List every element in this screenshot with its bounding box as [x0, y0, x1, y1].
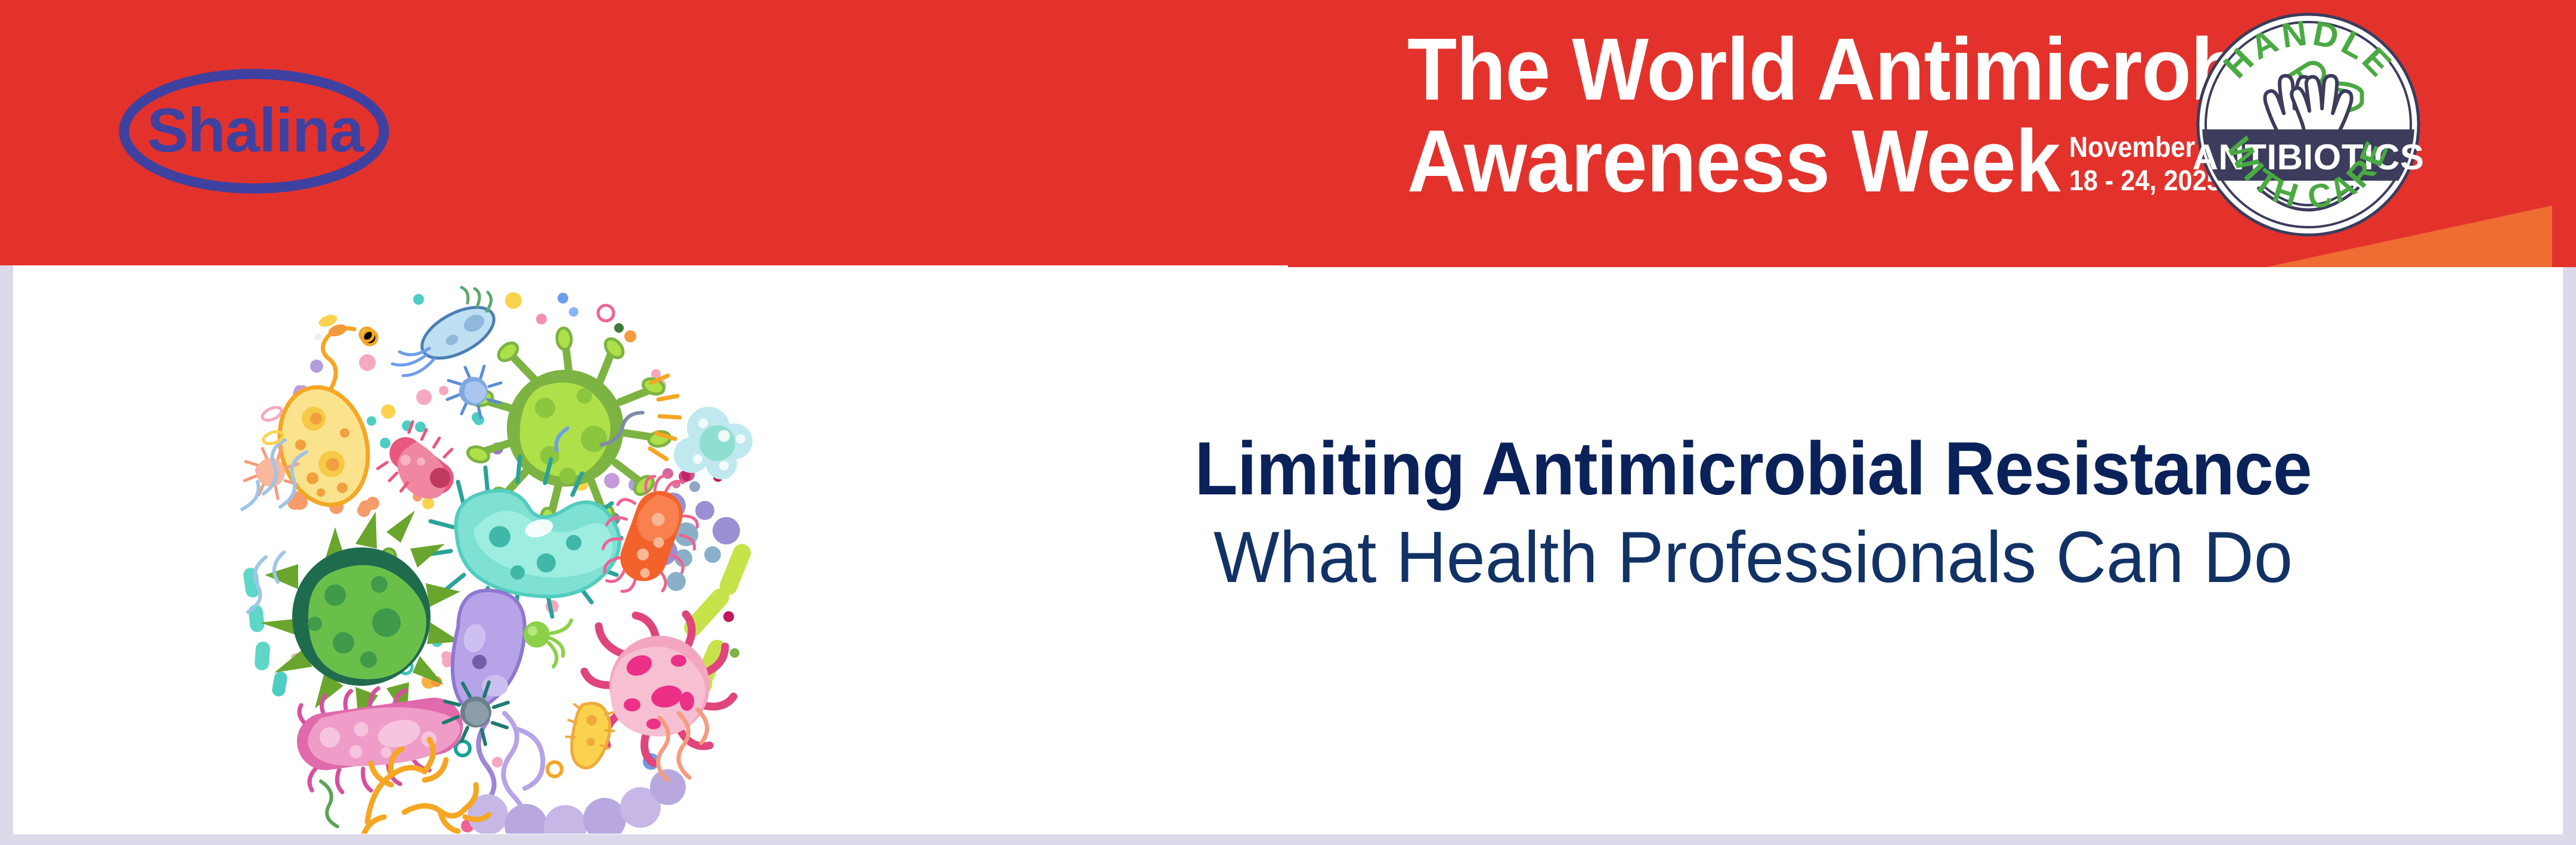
microbe-blue-spiky-ball: [447, 366, 501, 417]
microbe-blue-flagellate: [392, 287, 502, 376]
shalina-logo: Shalina: [117, 67, 391, 196]
campaign-title-line2: Awareness Week: [1407, 117, 2060, 206]
waaw-banner: Shalina The World Antimicrobial Awarenes…: [0, 0, 2576, 845]
frame-border-right: [2563, 267, 2576, 845]
page-title: Limiting Antimicrobial Resistance: [1024, 428, 2482, 509]
handle-antibiotics-badge: HANDLE: [2192, 8, 2425, 241]
headline-block: Limiting Antimicrobial Resistance What H…: [978, 428, 2528, 596]
microbe-small-green-flagellate: [524, 620, 571, 667]
frame-border-left: [0, 265, 13, 845]
microbe-purple-cocci-chain: [467, 769, 686, 834]
campaign-title-block: The World Antimicrobial Awareness Week N…: [1407, 25, 2171, 246]
frame-border-bottom: [0, 834, 2576, 845]
shalina-logo-wordmark: Shalina: [147, 96, 365, 165]
campaign-title-line1: The World Antimicrobial: [1407, 25, 2110, 114]
microbe-teal-rods: [243, 567, 289, 698]
microbe-green-virus-spiky: [260, 510, 460, 724]
page-subtitle: What Health Professionals Can Do: [1009, 518, 2497, 596]
microbe-bubble-cluster: [674, 407, 753, 479]
microbe-yellow-spiky-rod: [559, 699, 618, 772]
microbes-circle-illustration: [208, 285, 756, 834]
